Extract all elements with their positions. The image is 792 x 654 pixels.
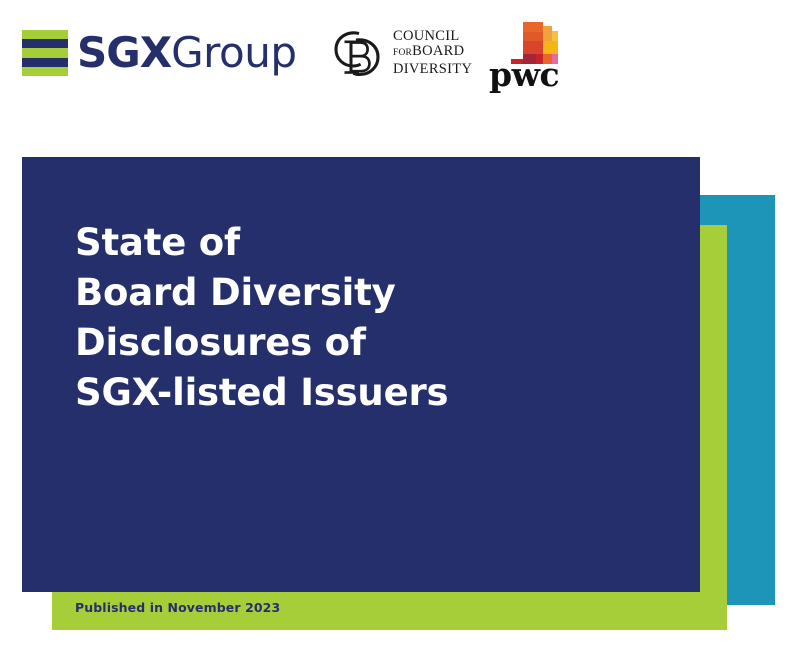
cbd-monogram-icon [329,25,385,81]
sgx-stripes-icon [22,30,68,76]
page-title-line-3: Disclosures of [75,318,675,368]
cover-page: SGXGroup [0,0,792,654]
pwc-wordmark: pwc [489,58,559,91]
cbd-line-for-board: ForBoard [393,44,472,62]
page-title-line-1: State of [75,218,675,268]
cbd-word-board: Board [412,43,464,59]
council-for-board-diversity-logo: Council ForBoard Diversity [329,24,472,82]
pwc-logo: pwc [489,22,581,88]
cbd-word-for: For [393,48,412,58]
page-title-line-2: Board Diversity [75,268,675,318]
published-date: Published in November 2023 [75,600,280,616]
cbd-line-diversity: Diversity [393,62,472,78]
logo-row: SGXGroup [0,0,792,110]
sgx-wordmark-light: Group [171,28,296,77]
page-title-line-4: SGX-listed Issuers [75,368,675,418]
cbd-line-council: Council [393,29,472,45]
sgx-group-logo: SGXGroup [22,24,296,82]
sgx-wordmark-bold: SGX [77,28,171,77]
page-title: State of Board Diversity Disclosures of … [75,218,675,418]
cbd-wordmark: Council ForBoard Diversity [393,29,472,78]
sgx-wordmark: SGXGroup [77,31,296,75]
